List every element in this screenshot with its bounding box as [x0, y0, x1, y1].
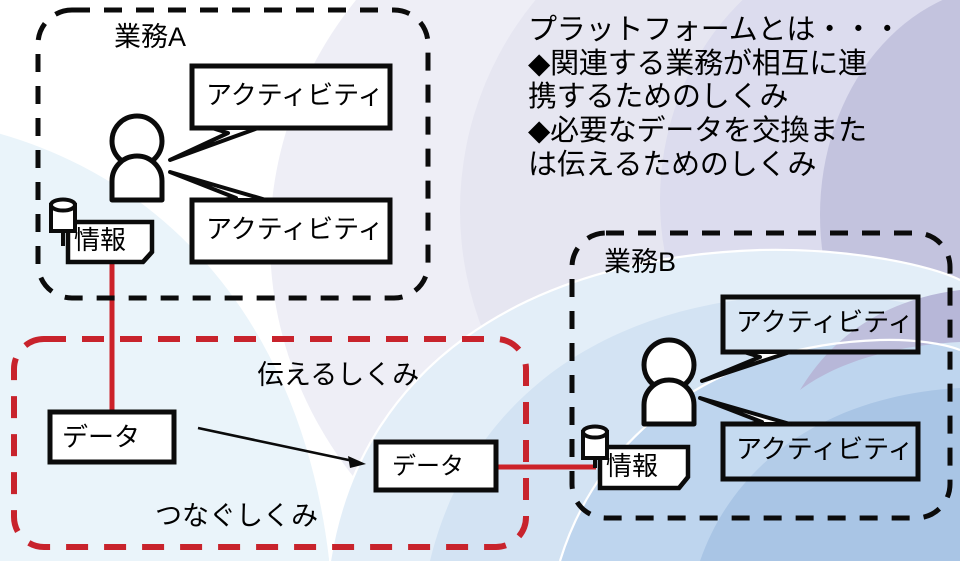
person-icon-a [112, 116, 162, 200]
group-b-title: 業務B [604, 249, 676, 276]
description-line-3: ◆必要なデータを交換また [528, 115, 948, 149]
description-line-4: は伝えるためのしくみ [528, 149, 948, 183]
info-label-b: 情報 [606, 453, 658, 479]
description-line-0: プラットフォームとは・・・ [528, 14, 948, 48]
data-label-left: データ [62, 424, 140, 450]
platform-description: プラットフォームとは・・・ ◆関連する業務が相互に連 携するためのしくみ ◆必要… [528, 14, 948, 182]
activity-label-b-bottom: アクティビティ [736, 436, 914, 462]
activity-label-a-bottom: アクティビティ [206, 216, 384, 242]
activity-label-b-top: アクティビティ [736, 309, 914, 335]
connect-mechanism-label: つなぐしくみ [155, 503, 318, 530]
description-line-2: 携するためのしくみ [528, 81, 948, 115]
activity-label-a-top: アクティビティ [206, 82, 384, 108]
data-label-right: データ [392, 455, 464, 479]
person-icon-b [644, 340, 694, 424]
description-line-1: ◆関連する業務が相互に連 [528, 48, 948, 82]
group-a-title: 業務A [114, 24, 186, 51]
transmit-mechanism-label: 伝えるしくみ [257, 362, 419, 389]
data-transfer-arrow [198, 428, 366, 468]
info-label-a: 情報 [74, 227, 126, 253]
diagram-canvas: 業務A アクティビティ アクティビティ 情報 業務B アクティビティ アクティビ… [0, 0, 960, 561]
